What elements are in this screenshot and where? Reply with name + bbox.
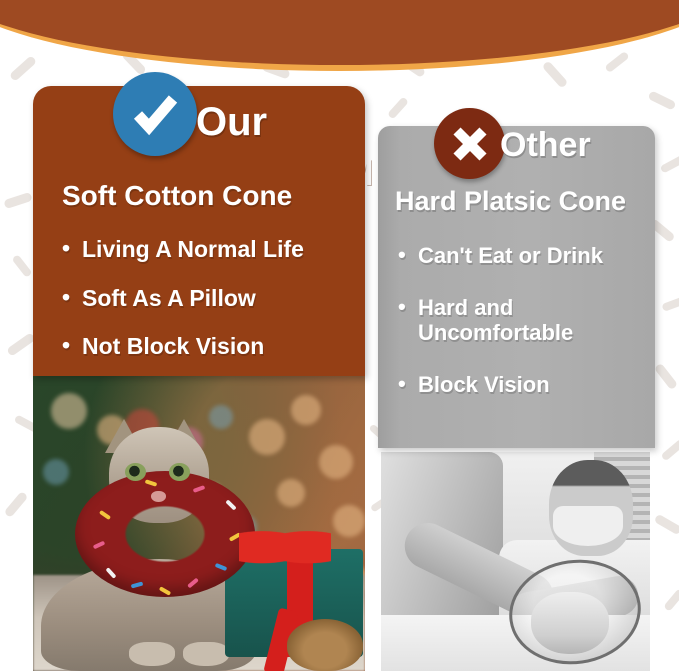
list-item: Soft As A Pillow xyxy=(62,285,304,312)
other-heading: Other xyxy=(500,126,591,165)
list-item: Not Block Vision xyxy=(62,333,304,360)
list-item: Can't Eat or Drink xyxy=(398,243,603,269)
list-item: Living A Normal Life xyxy=(62,236,304,263)
our-product-photo xyxy=(33,375,365,671)
other-product-photo xyxy=(381,452,650,671)
our-feature-list: Living A Normal Life Soft As A Pillow No… xyxy=(62,236,304,382)
list-item: Hard and Uncomfortable xyxy=(398,295,603,346)
our-subheading: Soft Cotton Cone xyxy=(62,180,292,212)
x-circle-icon xyxy=(434,108,505,179)
list-item: Block Vision xyxy=(398,372,603,398)
our-heading: Our xyxy=(196,100,267,145)
infographic-root: More Care More Love xyxy=(0,0,679,671)
check-circle-icon xyxy=(113,72,197,156)
other-feature-list: Can't Eat or Drink Hard and Uncomfortabl… xyxy=(398,243,603,423)
other-subheading: Hard Platsic Cone xyxy=(395,186,626,217)
